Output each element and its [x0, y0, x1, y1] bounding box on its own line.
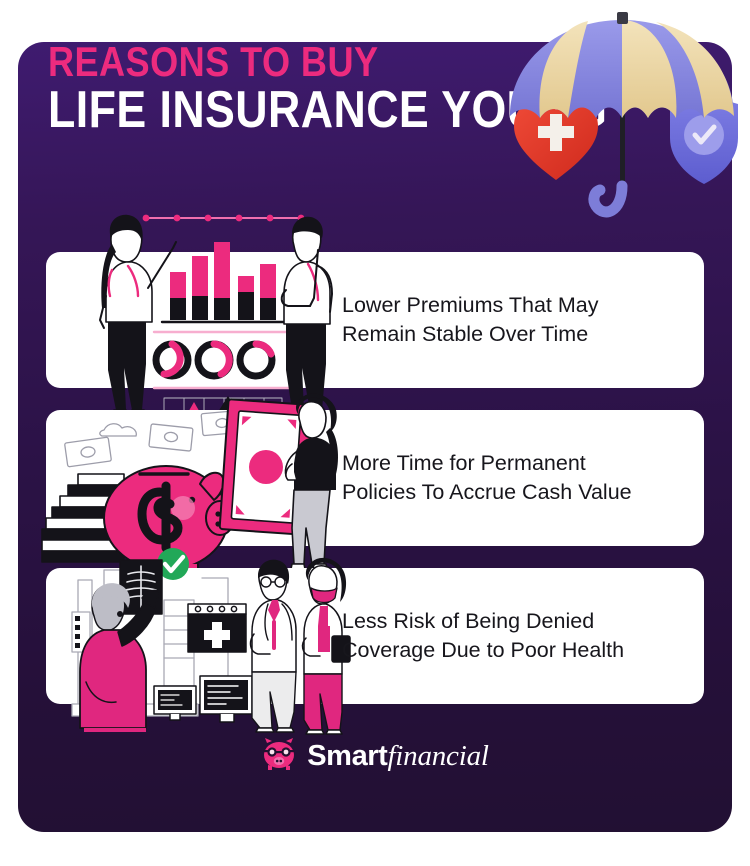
- floating-bills: [65, 410, 243, 467]
- bar-chart: [170, 242, 276, 320]
- benefit-card-3-text: Less Risk of Being Denied Coverage Due t…: [342, 607, 692, 665]
- benefit-card-2: More Time for Permanent Policies To Accr…: [46, 410, 704, 546]
- benefit-card-3-line-1: Less Risk of Being Denied: [342, 607, 692, 636]
- brand-wordmark-bold: Smart: [307, 740, 387, 772]
- umbrella-icon: [510, 12, 734, 118]
- benefit-card-1-line-2: Remain Stable Over Time: [342, 320, 692, 349]
- benefit-card-2-text: More Time for Permanent Policies To Accr…: [342, 449, 692, 507]
- control-panel: [188, 604, 246, 652]
- benefit-card-1-line-1: Lower Premiums That May: [342, 291, 692, 320]
- heart-cross-icon: [514, 100, 598, 180]
- benefit-card-1: Lower Premiums That May Remain Stable Ov…: [46, 252, 704, 388]
- medical-checkup-illustration: [46, 568, 346, 704]
- savings-illustration: [46, 410, 346, 546]
- donut-charts: [156, 344, 272, 376]
- benefit-card-3-line-2: Coverage Due to Poor Health: [342, 636, 692, 665]
- benefit-card-2-line-1: More Time for Permanent: [342, 449, 692, 478]
- piggy-bank-logo-icon: [261, 738, 297, 775]
- benefit-card-3: Less Risk of Being Denied Coverage Due t…: [46, 568, 704, 704]
- benefit-card-2-line-2: Policies To Accrue Cash Value: [342, 478, 692, 507]
- xray-film: [120, 560, 162, 614]
- benefit-card-1-text: Lower Premiums That May Remain Stable Ov…: [342, 291, 692, 349]
- brand-wordmark-italic: financial: [387, 740, 488, 772]
- data-analysis-illustration: [46, 252, 346, 388]
- brand-logo: Smartfinancial: [0, 738, 750, 775]
- hero-icon-cluster: [496, 0, 750, 242]
- brand-wordmark: Smartfinancial: [307, 740, 489, 773]
- banknote-icon: [220, 399, 313, 535]
- infographic-root: REASONS TO BUY LIFE INSURANCE YOUNG: [0, 0, 750, 866]
